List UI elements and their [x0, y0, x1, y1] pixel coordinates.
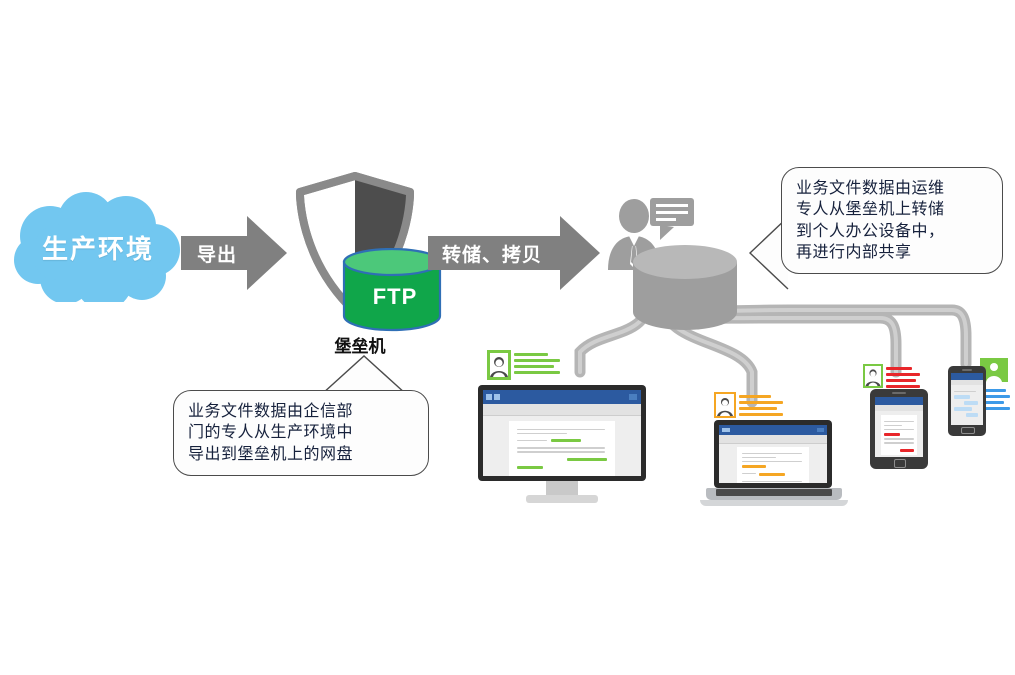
chat-list: [951, 385, 983, 422]
callout-right[interactable]: 业务文件数据由运维 专人从堡垒机上转储 到个人办公设备中， 再进行内部共享: [781, 167, 1003, 274]
arrow-export[interactable]: 导出: [181, 214, 287, 292]
database-cylinder-icon: [630, 244, 740, 344]
monitor-base: [526, 495, 598, 503]
arrow-transfer[interactable]: 转储、拷贝: [428, 214, 600, 292]
app-toolbar: [483, 404, 641, 416]
user-badge-desktop: [487, 350, 560, 380]
badge-lines: [886, 364, 920, 388]
app-titlebar: [483, 390, 641, 404]
laptop-keyboard: [716, 489, 832, 496]
window-control-icon: [817, 428, 824, 432]
chat-bubble: [964, 401, 978, 405]
callout-right-line: 再进行内部共享: [796, 242, 988, 263]
laptop-base-edge: [700, 500, 848, 506]
app-titlebar: [875, 397, 923, 405]
device-laptop[interactable]: [700, 420, 848, 510]
badge-lines: [514, 350, 560, 374]
speaker-icon: [892, 392, 906, 394]
app-titlebar: [719, 425, 827, 435]
avatar-icon: [714, 392, 736, 418]
home-button-icon[interactable]: [894, 459, 906, 468]
arrow-transfer-label: 转储、拷贝: [428, 214, 600, 292]
avatar-icon: [863, 364, 883, 388]
arrow-export-label: 导出: [181, 214, 287, 292]
speaker-icon: [962, 369, 972, 371]
window-dot-icon: [722, 428, 730, 432]
document-page: [509, 421, 615, 476]
diagram-canvas: 生产环境 导出 FTP 堡垒机: [0, 0, 1015, 675]
device-tablet[interactable]: [870, 389, 928, 469]
bastion-host-group[interactable]: FTP: [292, 172, 432, 322]
window-control-icon: [629, 394, 637, 400]
chat-bubble: [954, 395, 970, 399]
user-badge-tablet: [863, 364, 920, 388]
callout-right-line: 到个人办公设备中，: [796, 221, 988, 242]
callout-left-line: 业务文件数据由企信部: [188, 401, 414, 422]
app-toolbar: [875, 405, 923, 411]
badge-lines: [739, 392, 783, 416]
user-badge-laptop: [714, 392, 783, 418]
document-page: [737, 447, 809, 483]
window-dot-icon: [494, 394, 500, 400]
document-page: [881, 415, 917, 455]
callout-left-line: 导出到堡垒机上的网盘: [188, 444, 414, 465]
production-environment-cloud[interactable]: 生产环境: [8, 192, 188, 302]
tablet-screen: [875, 397, 923, 457]
home-button-icon[interactable]: [961, 427, 975, 434]
callout-right-line: 专人从堡垒机上转储: [796, 199, 988, 220]
phone-screen: [951, 373, 983, 425]
laptop-screen: [719, 425, 827, 483]
cloud-label: 生产环境: [8, 192, 188, 302]
device-desktop[interactable]: [478, 385, 650, 513]
avatar-icon: [487, 350, 511, 380]
window-dot-icon: [486, 394, 492, 400]
chat-bubble: [966, 413, 978, 417]
callout-left[interactable]: 业务文件数据由企信部 门的专人从生产环境中 导出到堡垒机上的网盘: [173, 390, 429, 476]
device-phone[interactable]: [948, 366, 986, 436]
pipe-connections: [0, 0, 1015, 675]
app-toolbar: [719, 435, 827, 444]
chat-bubble: [954, 407, 972, 411]
monitor-screen: [483, 390, 641, 476]
callout-left-line: 门的专人从生产环境中: [188, 422, 414, 443]
app-titlebar: [951, 373, 983, 380]
callout-right-line: 业务文件数据由运维: [796, 178, 988, 199]
